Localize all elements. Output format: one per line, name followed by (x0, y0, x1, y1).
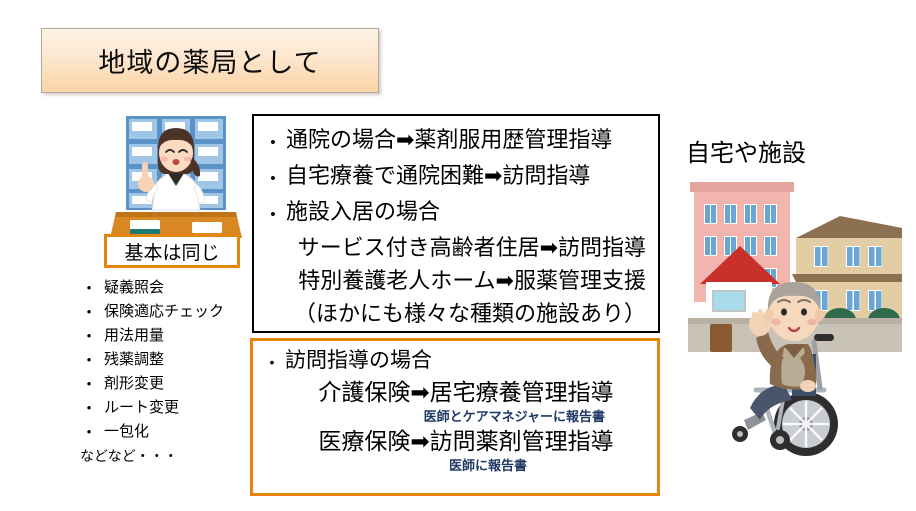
list-item: • ルート変更 (78, 396, 258, 420)
main-content-box: • 通院の場合➡薬剤服用歴管理指導 • 自宅療養で通院困難➡訪問指導 • 施設入… (252, 114, 660, 333)
visit-bullet-text: 訪問指導の場合 (285, 346, 432, 376)
pharmacist-illustration (108, 112, 244, 242)
main-sub-line: 特別養護老人ホーム➡服薬管理支援 (260, 264, 652, 297)
list-item-label: 剤形変更 (100, 372, 164, 393)
etcetera-text: などなど・・・ (78, 444, 258, 468)
visit-note-line: 医師に報告書 (259, 457, 651, 475)
bullet-glyph: • (78, 305, 100, 318)
list-item: • 一包化 (78, 420, 258, 444)
visit-guidance-box: • 訪問指導の場合 介護保険➡居宅療養管理指導 医師とケアマネジャーに報告書 医… (250, 338, 660, 496)
bullet-glyph: • (78, 281, 100, 294)
basics-label-text: 基本は同じ (124, 238, 219, 265)
page-title: 地域の薬局として (98, 41, 321, 80)
list-item-label: 残薬調整 (100, 348, 164, 369)
main-bullet-text: 通院の場合➡薬剤服用歴管理指導 (286, 123, 612, 156)
bullet-glyph: • (78, 425, 100, 438)
list-item: • 用法用量 (78, 324, 258, 348)
visit-main-line: 介護保険➡居宅療養管理指導 (259, 377, 651, 408)
list-item-label: 保険適応チェック (100, 300, 224, 321)
bullet-glyph: • (78, 353, 100, 366)
list-item-label: 用法用量 (100, 324, 164, 345)
list-item-label: 疑義照会 (100, 276, 164, 297)
main-bullet-line: • 通院の場合➡薬剤服用歴管理指導 (260, 123, 652, 159)
bullet-glyph: • (259, 347, 285, 377)
list-item: • 保険適応チェック (78, 300, 258, 324)
houses-and-wheelchair-illustration (688, 172, 902, 497)
home-and-facility-label: 自宅や施設 (686, 133, 806, 168)
basics-label-box: 基本は同じ (104, 234, 240, 268)
bullet-glyph: • (78, 329, 100, 342)
visit-main-line: 医療保険➡訪問薬剤管理指導 (259, 426, 651, 457)
slide-title-banner: 地域の薬局として (41, 28, 379, 93)
main-bullet-text: 施設入居の場合 (286, 195, 440, 228)
bullet-glyph: • (78, 377, 100, 390)
list-item: • 疑義照会 (78, 276, 258, 300)
main-sub-line: サービス付き高齢者住居➡訪問指導 (260, 231, 652, 264)
bullet-glyph: • (260, 126, 286, 159)
main-bullet-line: • 自宅療養で通院困難➡訪問指導 (260, 159, 652, 195)
main-bullet-line: • 施設入居の場合 (260, 195, 652, 231)
bullet-glyph: • (260, 162, 286, 195)
list-item-label: 一包化 (100, 420, 149, 441)
bullet-glyph: • (260, 198, 286, 231)
list-item: • 残薬調整 (78, 348, 258, 372)
visit-bullet-line: • 訪問指導の場合 (259, 346, 651, 377)
visit-note-line: 医師とケアマネジャーに報告書 (259, 408, 651, 426)
main-sub-line: （ほかにも様々な種類の施設あり） (260, 297, 652, 330)
list-item: • 剤形変更 (78, 372, 258, 396)
basics-item-list: • 疑義照会 • 保険適応チェック • 用法用量 • 残薬調整 • 剤形変更 •… (78, 276, 258, 468)
bullet-glyph: • (78, 401, 100, 414)
list-item-label: ルート変更 (100, 396, 179, 417)
main-bullet-text: 自宅療養で通院困難➡訪問指導 (286, 159, 590, 192)
